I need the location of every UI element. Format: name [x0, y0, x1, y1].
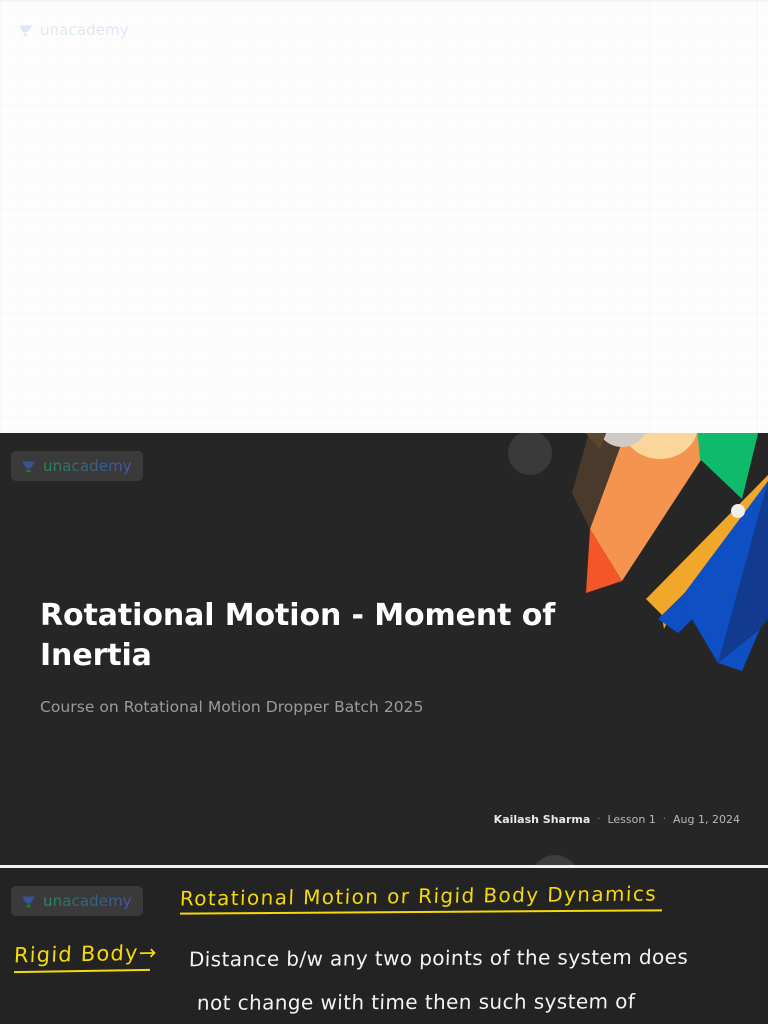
unacademy-watermark: unacademy: [17, 21, 129, 39]
unacademy-cup-icon: [20, 893, 37, 910]
blank-white-slide[interactable]: unacademy: [0, 0, 768, 433]
notes-term-label: Rigid Body→: [13, 941, 158, 968]
slide-meta: Kailash Sharma · Lesson 1 · Aug 1, 2024: [494, 813, 740, 826]
unacademy-wordmark: unacademy: [43, 457, 132, 475]
dot-white: [731, 504, 745, 518]
lesson-number: Lesson 1: [607, 813, 655, 826]
lesson-date: Aug 1, 2024: [673, 813, 740, 826]
slide-grid-texture: [0, 0, 768, 433]
page-subtitle: Course on Rotational Motion Dropper Batc…: [40, 698, 580, 716]
meta-separator-1: ·: [597, 814, 600, 825]
circle-decor-3: [508, 433, 552, 475]
title-block: Rotational Motion - Moment of Inertia Co…: [40, 596, 580, 716]
author-name: Kailash Sharma: [494, 813, 591, 826]
slide-top-shadow: [0, 0, 768, 3]
meta-separator-2: ·: [663, 814, 666, 825]
page-title: Rotational Motion - Moment of Inertia: [40, 596, 580, 676]
unacademy-logo-badge[interactable]: unacademy: [11, 451, 143, 481]
unacademy-wordmark: unacademy: [43, 892, 132, 910]
unacademy-cup-icon: [17, 22, 34, 39]
title-slide[interactable]: unacademy Rotational Motion - Moment of …: [0, 433, 768, 865]
unacademy-wordmark: unacademy: [40, 21, 129, 39]
lesson-slides-page: unacademy: [0, 0, 768, 1024]
circle-decor-1: [531, 855, 579, 865]
notes-body-line-2: not change with time then such system of: [197, 989, 636, 1015]
notes-heading: Rotational Motion or Rigid Body Dynamics: [179, 882, 657, 911]
unacademy-logo-badge[interactable]: unacademy: [11, 886, 143, 916]
notes-body-line-1: Distance b/w any two points of the syste…: [189, 945, 689, 972]
unacademy-cup-icon: [20, 458, 37, 475]
